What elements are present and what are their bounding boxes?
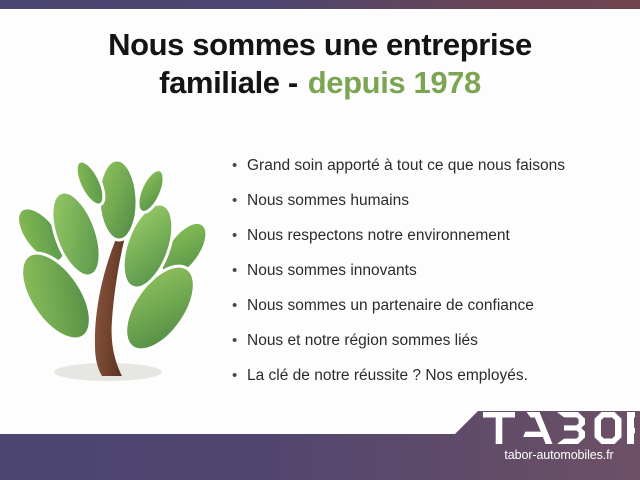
list-item: • La clé de notre réussite ? Nos employé… <box>231 358 631 393</box>
list-item: • Nous sommes innovants <box>231 253 631 288</box>
list-item-label: La clé de notre réussite ? Nos employés. <box>247 367 528 384</box>
bullet-icon: • <box>232 183 237 218</box>
slide-canvas: Nous sommes une entreprise familiale -de… <box>0 0 640 480</box>
list-item-label: Nous sommes innovants <box>247 262 417 279</box>
headline-line-2: familiale -depuis 1978 <box>0 64 640 102</box>
headline-line-1: Nous sommes une entreprise <box>0 26 640 64</box>
headline-accent-year: depuis 1978 <box>308 65 481 100</box>
list-item: • Grand soin apporté à tout ce que nous … <box>231 148 631 183</box>
list-item-label: Nous sommes humains <box>247 192 409 209</box>
brand-logo[interactable]: tabor-automobiles.fr <box>483 412 635 474</box>
top-accent-bar <box>0 0 640 9</box>
values-list: • Grand soin apporté à tout ce que nous … <box>231 148 631 393</box>
brand-tagline: tabor-automobiles.fr <box>483 448 635 462</box>
headline-line-2-main: familiale - <box>159 65 298 100</box>
bullet-icon: • <box>232 148 237 183</box>
tabor-letters <box>483 412 635 444</box>
bullet-icon: • <box>232 323 237 358</box>
list-item: • Nous sommes un partenaire de confiance <box>231 288 631 323</box>
bullet-icon: • <box>232 288 237 323</box>
list-item-label: Grand soin apporté à tout ce que nous fa… <box>247 157 565 174</box>
list-item-label: Nous sommes un partenaire de confiance <box>247 297 534 314</box>
list-item: • Nous respectons notre environnement <box>231 218 631 253</box>
list-item: • Nous sommes humains <box>231 183 631 218</box>
list-item-label: Nous respectons notre environnement <box>247 227 510 244</box>
bullet-icon: • <box>232 358 237 393</box>
bullet-icon: • <box>232 218 237 253</box>
page-title: Nous sommes une entreprise familiale -de… <box>0 26 640 102</box>
brand-wordmark <box>483 412 635 445</box>
bullet-icon: • <box>232 253 237 288</box>
list-item-label: Nous et notre région sommes liés <box>247 332 478 349</box>
list-item: • Nous et notre région sommes liés <box>231 323 631 358</box>
tree-illustration <box>8 138 223 390</box>
